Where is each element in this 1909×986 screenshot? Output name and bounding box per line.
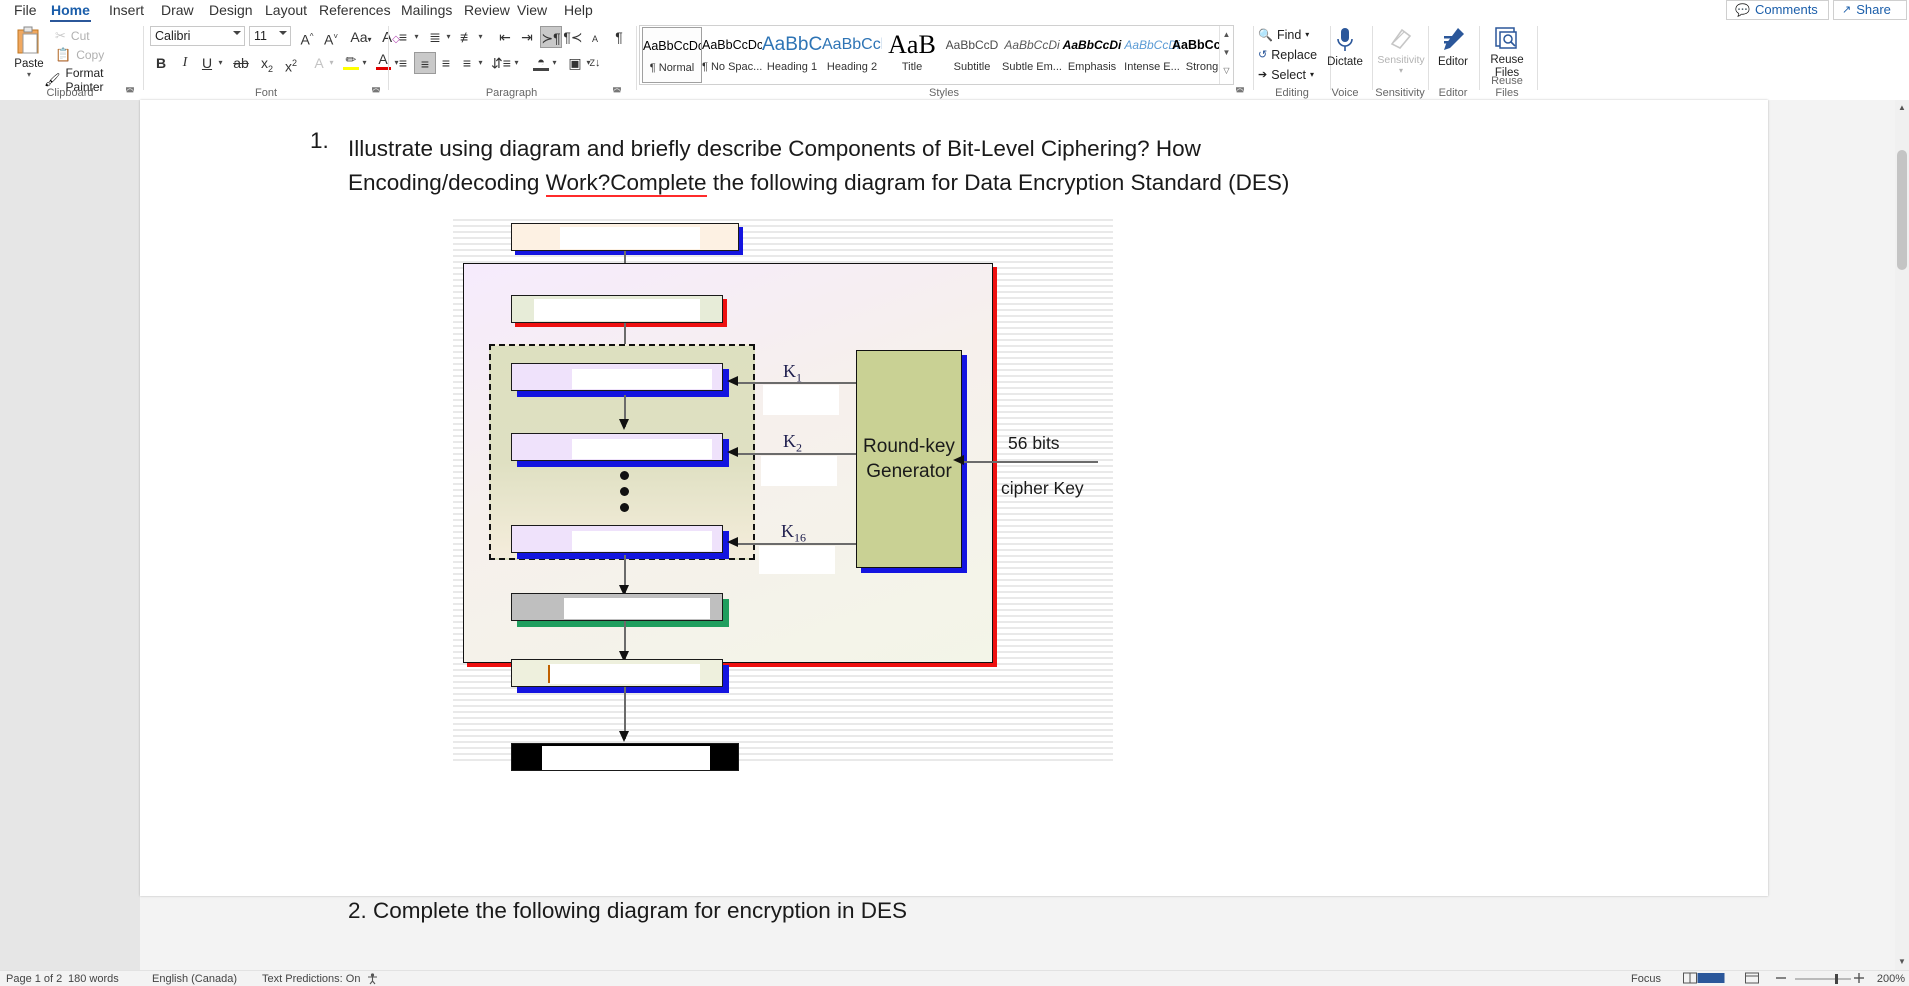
vertical-scrollbar[interactable]: ▲ ▼	[1895, 100, 1909, 970]
ltr-text-direction-button[interactable]: ≻¶	[540, 26, 562, 48]
ribbon-group-editing: 🔍 Find ▾ ↺ Replace ➔ Select ▾ Editing	[1256, 22, 1328, 100]
borders-chevron-down-icon[interactable]: ▾	[584, 52, 593, 74]
zoom-in-icon[interactable]	[1853, 972, 1867, 986]
text-predictions-status[interactable]: Text Predictions: On	[262, 972, 360, 986]
paste-label: Paste	[14, 58, 43, 70]
arrow-cipherkey-to-rkg	[963, 461, 1098, 463]
align-center-button[interactable]: ≡	[414, 52, 436, 74]
select-chevron-down-icon[interactable]: ▾	[1310, 65, 1314, 85]
ribbon-group-sensitivity: Sensitivity ▾ Sensitivity	[1374, 22, 1426, 100]
ciphertext-box[interactable]	[511, 743, 739, 771]
microphone-icon	[1336, 26, 1354, 54]
chevron-down-icon[interactable]	[279, 31, 287, 35]
comments-label: Comments	[1755, 0, 1818, 20]
comments-button[interactable]: 💬 Comments	[1726, 0, 1829, 20]
find-label: Find	[1277, 25, 1301, 45]
reuse-files-label-line1: Reuse	[1482, 54, 1532, 67]
shading-button[interactable]: ◓	[530, 50, 552, 72]
increase-indent-button[interactable]: ⇥	[516, 26, 538, 48]
round-2-box[interactable]	[511, 433, 723, 461]
dictate-button[interactable]: Dictate	[1322, 24, 1368, 88]
strikethrough-button[interactable]: ab	[230, 52, 252, 74]
ribbon-group-reuse-files: Reuse Files Reuse Files	[1481, 22, 1533, 100]
styles-dialog-launcher[interactable]: ◚	[1234, 87, 1246, 99]
text-effects-chevron-down-icon[interactable]: ▾	[327, 52, 336, 74]
initial-permutation-box[interactable]	[511, 295, 723, 323]
final-swap-box[interactable]	[511, 593, 723, 621]
cut-label: Cut	[71, 29, 90, 43]
next-question-text: Complete the following diagram for encry…	[373, 898, 907, 923]
final-swap-label-erased	[564, 598, 710, 619]
select-label: Select	[1271, 65, 1306, 85]
cipher-key-label: cipher Key	[1001, 478, 1084, 499]
numbering-chevron-down-icon[interactable]: ▾	[444, 26, 453, 48]
group-label-clipboard: Clipboard	[0, 87, 140, 99]
chevron-down-icon[interactable]	[233, 31, 241, 35]
style-preview: AaBbC	[762, 27, 822, 61]
shading-chevron-down-icon[interactable]: ▾	[550, 52, 559, 74]
justify-button[interactable]: ≡	[456, 52, 478, 74]
underline-button[interactable]: U	[196, 52, 218, 74]
ribbon-area: File Home Insert Draw Design Layout Refe…	[0, 0, 1909, 100]
divider	[388, 26, 389, 90]
ciphertext-label-erased	[542, 746, 710, 770]
font-name-value: Calibri	[155, 29, 190, 43]
cursor-arrow-icon: ➔	[1258, 65, 1267, 85]
tab-home[interactable]: Home	[45, 0, 96, 22]
question-line-2-part-a: Encoding/decoding	[348, 170, 546, 195]
ellipsis-dot	[620, 487, 629, 496]
left-margin-gutter	[0, 100, 140, 970]
dictate-label: Dictate	[1327, 56, 1363, 68]
question-line-2: Encoding/decoding Work?Complete the foll…	[348, 162, 1289, 203]
tab-layout[interactable]: Layout	[259, 0, 313, 22]
replace-label: Replace	[1271, 45, 1317, 65]
grow-font-button[interactable]: A^	[296, 26, 318, 48]
next-question-number: 2.	[348, 898, 367, 923]
ribbon-home: Paste ▾ ✂ Cut 📋 Copy 🖌 Format Painter Cl…	[0, 22, 1909, 100]
document-page[interactable]: 1. Illustrate using diagram and briefly …	[140, 100, 1768, 896]
bold-button[interactable]: B	[150, 52, 172, 74]
editor-button[interactable]: Editor	[1430, 24, 1476, 88]
style-emphasis[interactable]: AaBbCcDi Emphasis	[1062, 27, 1122, 83]
arrow-head-left-icon	[727, 376, 738, 386]
word-window: File Home Insert Draw Design Layout Refe…	[0, 0, 1909, 986]
borders-button[interactable]: ▣	[564, 52, 586, 74]
style-name: Emphasis	[1062, 61, 1122, 73]
tab-references[interactable]: References	[313, 0, 397, 22]
style-subtle-emphasis[interactable]: AaBbCcDi Subtle Em...	[1002, 27, 1062, 83]
italic-button[interactable]: I	[174, 52, 196, 74]
chevron-down-icon[interactable]: ▾	[1376, 66, 1426, 75]
change-case-button[interactable]: Aa▾	[346, 26, 376, 48]
decrease-indent-button[interactable]: ⇤	[494, 26, 516, 48]
divider	[636, 26, 637, 90]
style-preview: AaBbCcl	[822, 27, 882, 61]
group-label-paragraph: Paragraph	[390, 87, 633, 99]
share-button[interactable]: ↗ Share	[1833, 0, 1907, 20]
final-permutation-box[interactable]	[511, 659, 723, 687]
divider	[143, 26, 144, 90]
zoom-slider[interactable]	[1795, 978, 1851, 980]
key-label-k2: K2	[783, 431, 802, 456]
language-indicator[interactable]: English (Canada)	[152, 972, 237, 986]
tab-review[interactable]: Review	[458, 0, 516, 22]
style-name: Title	[882, 61, 942, 73]
zoom-level[interactable]: 200%	[1877, 972, 1905, 986]
cut-button[interactable]: ✂ Cut	[55, 28, 90, 44]
paintbrush-icon: 🖌	[44, 72, 61, 88]
text-cursor-icon	[548, 665, 550, 683]
k1-letter: K	[783, 361, 796, 381]
find-button[interactable]: 🔍 Find ▾	[1258, 25, 1309, 45]
zoom-slider-thumb[interactable]	[1835, 974, 1838, 984]
multilevel-list-button[interactable]: ≢	[456, 26, 478, 48]
share-label: Share	[1856, 0, 1891, 20]
copy-icon: 📋	[55, 47, 71, 63]
tab-help[interactable]: Help	[558, 0, 599, 22]
bullets-chevron-down-icon[interactable]: ▾	[412, 26, 421, 48]
font-dialog-launcher[interactable]: ◚	[370, 87, 382, 99]
round-16-box[interactable]	[511, 525, 723, 553]
align-right-button[interactable]: ≡	[435, 52, 457, 74]
superscript-button[interactable]: x2	[280, 52, 302, 74]
tab-draw[interactable]: Draw	[155, 0, 200, 22]
divider	[1372, 26, 1373, 90]
style-name: ¶ Normal	[643, 62, 701, 74]
final-permutation-label-erased	[550, 664, 700, 684]
share-arrow-icon: ↗	[1842, 0, 1851, 20]
select-button[interactable]: ➔ Select ▾	[1258, 65, 1314, 85]
group-label-editing: Editing	[1256, 87, 1328, 99]
round-key-generator-line1: Round-key	[863, 434, 955, 459]
arrow-k1-to-round1	[737, 382, 857, 384]
align-left-button[interactable]: ≡	[392, 52, 414, 74]
tab-mailings[interactable]: Mailings	[395, 0, 458, 22]
scroll-up-icon[interactable]: ▲	[1895, 100, 1909, 116]
k16-annotation-erased	[759, 546, 835, 574]
divider	[1537, 26, 1538, 90]
page-indicator[interactable]: Page 1 of 2	[6, 972, 62, 986]
list-number: 1.	[310, 128, 329, 154]
tab-design[interactable]: Design	[203, 0, 259, 22]
ribbon-tab-bar: File Home Insert Draw Design Layout Refe…	[0, 0, 1909, 22]
next-question-line: 2. Complete the following diagram for en…	[348, 890, 907, 931]
read-mode-icon[interactable]	[1683, 972, 1697, 986]
key-label-k16: K16	[781, 521, 806, 546]
font-name-input[interactable]: Calibri	[150, 26, 245, 46]
find-chevron-down-icon[interactable]: ▾	[1305, 25, 1309, 45]
scissors-icon: ✂	[55, 28, 66, 44]
des-diagram[interactable]: K1 K2 K16	[453, 215, 1113, 765]
accessibility-icon[interactable]	[366, 972, 380, 986]
styles-gallery[interactable]: AaBbCcDc ¶ Normal AaBbCcDc ¶ No Spac... …	[639, 25, 1234, 85]
k2-annotation-erased	[761, 456, 837, 486]
paragraph-dialog-launcher[interactable]: ◚	[611, 87, 623, 99]
styles-gallery-scrollbar[interactable]: ▲ ▼ ▽	[1219, 26, 1233, 84]
ribbon-group-editor: Editor Editor	[1430, 22, 1476, 100]
font-size-input[interactable]: 11	[249, 26, 291, 46]
comment-bubble-icon: 💬	[1735, 0, 1750, 20]
style-name: Heading 2	[822, 61, 882, 73]
scroll-down-icon[interactable]: ▼	[1220, 44, 1233, 62]
search-icon: 🔍	[1258, 25, 1273, 45]
group-label-reuse-files: Reuse Files	[1481, 75, 1533, 99]
group-label-sensitivity: Sensitivity	[1374, 87, 1426, 99]
web-layout-icon[interactable]	[1745, 972, 1759, 986]
bits-label: 56 bits	[1008, 433, 1060, 454]
style-name: Heading 1	[762, 61, 822, 73]
highlight-color-button[interactable]: ✏	[340, 48, 362, 70]
rtl-text-direction-button[interactable]: ¶≺	[562, 26, 584, 48]
tab-view[interactable]: View	[511, 0, 553, 22]
style-heading-1[interactable]: AaBbC Heading 1	[762, 27, 822, 83]
style-subtitle[interactable]: AaBbCcD Subtitle	[942, 27, 1002, 83]
style-preview: AaBbCcD	[942, 27, 1002, 61]
bullet-list-button[interactable]: ≡	[392, 26, 414, 48]
arrow-head-left-icon	[727, 447, 738, 457]
round-key-generator-line2: Generator	[863, 459, 955, 484]
sensitivity-label: Sensitivity	[1377, 54, 1424, 66]
round-1-box[interactable]	[511, 363, 723, 391]
sensitivity-button[interactable]: Sensitivity ▾	[1376, 24, 1426, 88]
ribbon-group-voice: Dictate Voice	[1322, 22, 1368, 100]
style-title[interactable]: AaB Title	[882, 27, 942, 83]
round-key-generator-box[interactable]: Round-key Generator	[856, 350, 962, 568]
zoom-out-icon[interactable]	[1775, 972, 1789, 986]
focus-label[interactable]: Focus	[1631, 972, 1661, 986]
question-line-2-part-b: the following diagram for Data Encryptio…	[707, 170, 1290, 195]
round-1-label-erased	[572, 369, 712, 389]
style-preview: AaBbCcDi	[1002, 27, 1062, 61]
status-bar: Page 1 of 2 180 words English (Canada) T…	[0, 970, 1909, 986]
divider	[1479, 26, 1480, 90]
style-name: Subtitle	[942, 61, 1002, 73]
copy-label: Copy	[76, 48, 104, 62]
arrow-head-left-icon	[953, 455, 964, 465]
group-label-editor: Editor	[1430, 87, 1476, 99]
arrow-k16-to-round16	[737, 543, 857, 545]
tab-insert[interactable]: Insert	[103, 0, 150, 22]
plaintext-box[interactable]	[511, 223, 739, 251]
style-normal[interactable]: AaBbCcDc ¶ Normal	[642, 27, 702, 83]
k1-annotation-erased	[763, 385, 839, 415]
document-area[interactable]: 1. Illustrate using diagram and briefly …	[0, 100, 1909, 970]
print-layout-icon[interactable]	[1697, 972, 1727, 986]
ribbon-group-styles: AaBbCcDc ¶ Normal AaBbCcDc ¶ No Spac... …	[638, 22, 1250, 100]
word-count[interactable]: 180 words	[68, 972, 119, 986]
scrollbar-thumb[interactable]	[1897, 150, 1907, 270]
clipboard-dialog-launcher[interactable]: ◚	[124, 87, 136, 99]
tab-file[interactable]: File	[8, 0, 43, 22]
numbered-list-button[interactable]: ≣	[424, 26, 446, 48]
reuse-files-icon	[1494, 26, 1520, 52]
scroll-down-icon[interactable]: ▼	[1895, 954, 1909, 970]
group-label-voice: Voice	[1322, 87, 1368, 99]
divider	[1253, 26, 1254, 90]
subscript-button[interactable]: x2	[256, 52, 278, 74]
editor-label: Editor	[1438, 56, 1468, 68]
k2-letter: K	[783, 431, 796, 451]
round-2-label-erased	[572, 439, 712, 459]
more-styles-icon[interactable]: ▽	[1220, 62, 1233, 80]
arrow-k2-to-round2	[737, 453, 857, 455]
ellipsis-dot	[620, 503, 629, 512]
replace-icon: ↺	[1258, 45, 1267, 65]
style-preview: AaB	[882, 27, 942, 61]
round-16-label-erased	[572, 531, 712, 551]
replace-button[interactable]: ↺ Replace	[1258, 45, 1317, 65]
misspelled-word[interactable]: Work?Complete	[546, 170, 707, 197]
font-size-value: 11	[254, 29, 267, 43]
scroll-up-icon[interactable]: ▲	[1220, 26, 1233, 44]
style-preview: AaBbCcDc	[643, 28, 701, 62]
arrow-head-icon	[619, 419, 629, 430]
style-name: Subtle Em...	[1002, 61, 1062, 73]
style-preview: AaBbCcDi	[1062, 27, 1122, 61]
style-name: ¶ No Spac...	[702, 61, 762, 73]
divider	[1428, 26, 1429, 90]
style-no-spacing[interactable]: AaBbCcDc ¶ No Spac...	[702, 27, 762, 83]
paste-icon	[16, 26, 42, 56]
style-preview: AaBbCcDc	[702, 27, 762, 61]
arrow-head-left-icon	[727, 537, 738, 547]
plaintext-label-erased	[560, 227, 700, 249]
copy-button[interactable]: 📋 Copy	[55, 47, 104, 63]
arrow-head-icon	[619, 731, 629, 742]
style-heading-2[interactable]: AaBbCcl Heading 2	[822, 27, 882, 83]
ribbon-group-paragraph: ≡ ▾ ≣ ▾ ≢ ▾ ⇤ ⇥ ≻¶ ¶≺ AZ↓ ¶ ≡ ≡ ≡ ≡ ▾ ⇵≡	[390, 22, 633, 100]
group-label-styles: Styles	[638, 87, 1250, 99]
line-spacing-button[interactable]: ⇵≡	[490, 52, 512, 74]
ribbon-group-clipboard: Paste ▾ ✂ Cut 📋 Copy 🖌 Format Painter Cl…	[0, 22, 140, 100]
editor-pen-icon	[1440, 26, 1466, 54]
highlight-chevron-down-icon[interactable]: ▾	[360, 52, 369, 74]
group-label-font: Font	[146, 87, 386, 99]
show-formatting-marks-button[interactable]: ¶	[608, 26, 630, 48]
justify-chevron-down-icon[interactable]: ▾	[476, 52, 485, 74]
initial-permutation-label-erased	[534, 299, 700, 321]
sort-button[interactable]: AZ↓	[584, 26, 606, 48]
line-spacing-chevron-down-icon[interactable]: ▾	[512, 52, 521, 74]
sensitivity-label-icon	[1388, 26, 1414, 52]
shrink-font-button[interactable]: A˅	[320, 26, 342, 48]
k16-letter: K	[781, 521, 794, 541]
ellipsis-dot	[620, 471, 629, 480]
multilevel-chevron-down-icon[interactable]: ▾	[476, 26, 485, 48]
ribbon-group-font: Calibri 11 A^ A˅ Aa▾ A◇ B I U ▾ ab x2	[146, 22, 386, 100]
underline-chevron-down-icon[interactable]: ▾	[216, 52, 225, 74]
